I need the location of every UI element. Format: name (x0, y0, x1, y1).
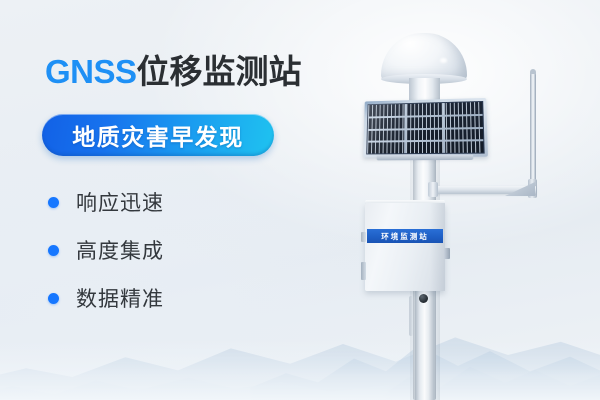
enclosure-latch (444, 248, 450, 259)
status-badge: 地质灾害早发现 (42, 114, 274, 156)
page-title: GNSS位移监测站 (45, 55, 302, 88)
mast-cable (409, 296, 413, 336)
enclosure-label-text: 环境监测站 (381, 231, 429, 242)
cross-arm-clamp (428, 182, 438, 197)
solar-panel-cells (366, 101, 485, 154)
mast-pole-lower (415, 290, 434, 400)
enclosure-label-band: 环境监测站 (367, 229, 443, 243)
panel-grid-line (367, 139, 483, 142)
feature-label: 高度集成 (76, 235, 164, 265)
promo-banner: 环境监测站 GNSS位移监测站 地质灾害早发现 响应迅速 高度集成 数据精准 (0, 0, 600, 400)
page-title-brand: GNSS (45, 53, 137, 90)
bullet-dot-icon (48, 197, 59, 208)
enclosure-hinge-lower (361, 262, 366, 280)
sensor-icon (419, 294, 428, 303)
whip-antenna-icon (530, 72, 536, 190)
enclosure-hinge-upper (361, 232, 366, 242)
panel-grid-line (368, 114, 483, 119)
list-item: 响应迅速 (48, 178, 288, 226)
whip-antenna-tip (530, 69, 536, 74)
feature-list: 响应迅速 高度集成 数据精准 (48, 178, 288, 322)
feature-label: 数据精准 (76, 283, 164, 313)
enclosure-box-shading (430, 203, 445, 291)
dome-highlight (440, 58, 447, 63)
status-badge-label: 地质灾害早发现 (72, 118, 244, 152)
feature-label: 响应迅速 (76, 187, 164, 217)
bullet-dot-icon (48, 245, 59, 256)
page-title-rest: 位移监测站 (137, 53, 302, 90)
bullet-dot-icon (48, 293, 59, 304)
list-item: 数据精准 (48, 274, 288, 322)
copy-block: GNSS位移监测站 地质灾害早发现 响应迅速 高度集成 数据精准 (0, 0, 330, 400)
list-item: 高度集成 (48, 226, 288, 274)
solar-panel-bracket (377, 155, 474, 161)
panel-grid-line (368, 126, 483, 130)
solar-panel-frame (363, 98, 488, 158)
solar-panel (363, 98, 488, 162)
